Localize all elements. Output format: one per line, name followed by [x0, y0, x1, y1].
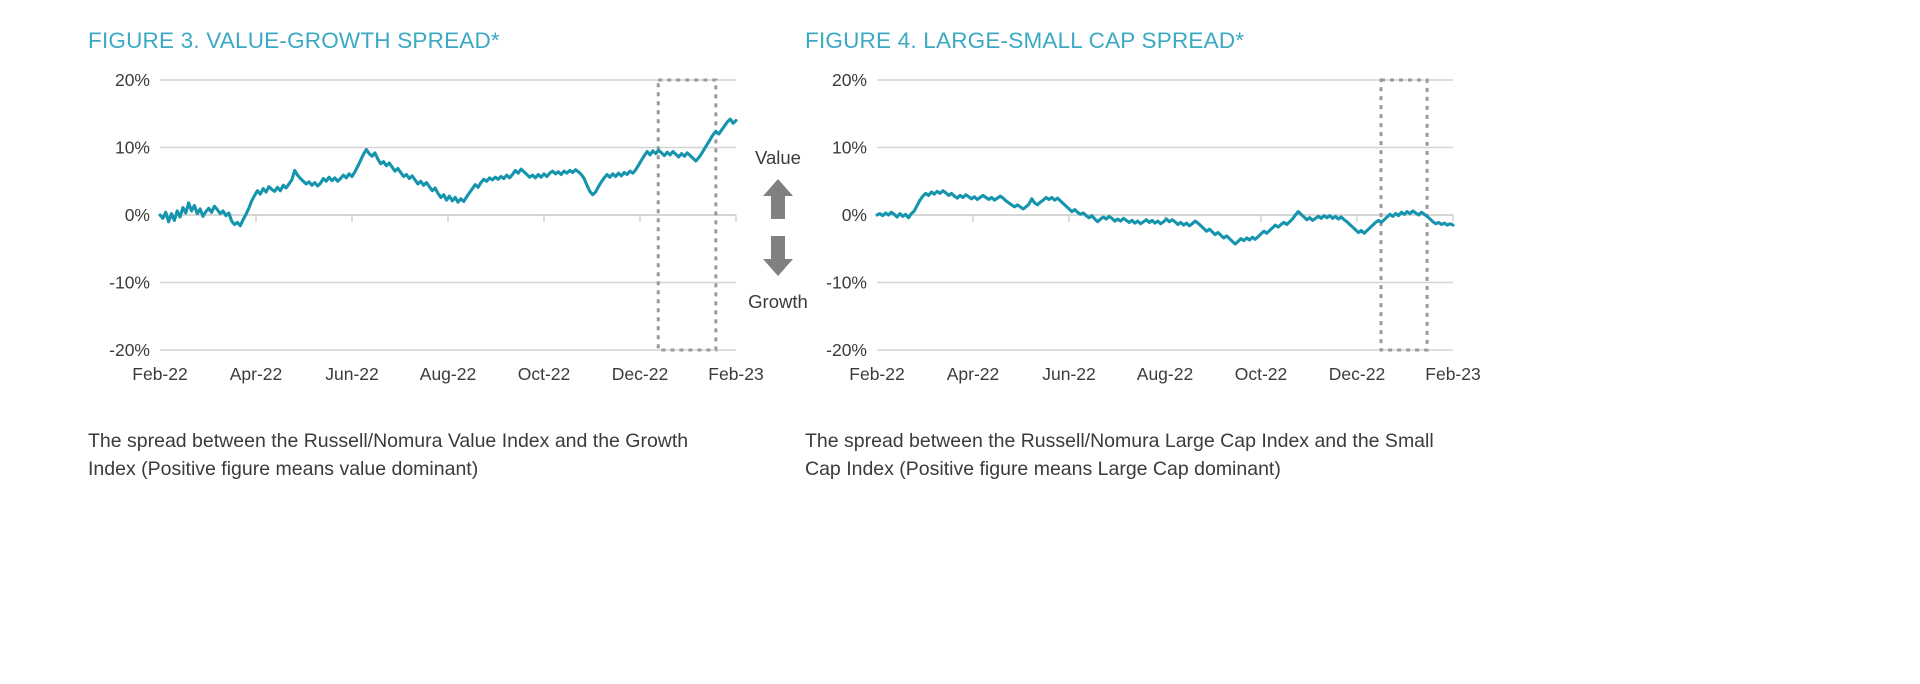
series-line: [160, 119, 736, 226]
y-axis-tick-label: 20%: [115, 70, 150, 90]
x-axis-tick-label: Oct-22: [518, 364, 571, 384]
arrow-down-icon: [762, 235, 794, 282]
y-axis-tick-label: -10%: [109, 273, 150, 293]
x-axis-tick-label: Dec-22: [612, 364, 668, 384]
x-axis-tick-label: Feb-23: [1425, 364, 1480, 384]
x-axis-tick-label: Feb-22: [849, 364, 904, 384]
arrow-up-icon: [762, 178, 794, 225]
x-axis-tick-label: Apr-22: [947, 364, 1000, 384]
y-axis-tick-label: 10%: [832, 138, 867, 158]
figure-3-panel: FIGURE 3. VALUE-GROWTH SPREAD* 20%10%0%-…: [88, 0, 888, 684]
y-axis-tick-label: -20%: [826, 340, 867, 360]
figure-4-title: FIGURE 4. LARGE-SMALL CAP SPREAD*: [805, 28, 1244, 54]
x-axis-tick-label: Aug-22: [420, 364, 476, 384]
figure-4-panel: FIGURE 4. LARGE-SMALL CAP SPREAD* 20%10%…: [805, 0, 1605, 684]
x-axis-tick-label: Dec-22: [1329, 364, 1385, 384]
figure-4-caption: The spread between the Russell/Nomura La…: [805, 428, 1445, 483]
y-axis-tick-label: -10%: [826, 273, 867, 293]
figure-3-title: FIGURE 3. VALUE-GROWTH SPREAD*: [88, 28, 500, 54]
y-axis-tick-label: 10%: [115, 138, 150, 158]
x-axis-tick-label: Feb-23: [708, 364, 763, 384]
figure-3-caption: The spread between the Russell/Nomura Va…: [88, 428, 708, 483]
y-axis-tick-label: 0%: [125, 205, 150, 225]
x-axis-tick-label: Apr-22: [230, 364, 283, 384]
x-axis-tick-label: Aug-22: [1137, 364, 1193, 384]
large-small-cap-spread-chart: 20%10%0%-10%-20%Feb-22Apr-22Jun-22Aug-22…: [805, 62, 1505, 392]
x-axis-tick-label: Feb-22: [132, 364, 187, 384]
y-axis-tick-label: 20%: [832, 70, 867, 90]
x-axis-tick-label: Oct-22: [1235, 364, 1288, 384]
figure-4-chart: 20%10%0%-10%-20%Feb-22Apr-22Jun-22Aug-22…: [805, 62, 1505, 392]
figure-3-chart: 20%10%0%-10%-20%Feb-22Apr-22Jun-22Aug-22…: [88, 62, 788, 392]
y-axis-tick-label: -20%: [109, 340, 150, 360]
x-axis-tick-label: Jun-22: [325, 364, 379, 384]
value-growth-spread-chart: 20%10%0%-10%-20%Feb-22Apr-22Jun-22Aug-22…: [88, 62, 788, 392]
x-axis-tick-label: Jun-22: [1042, 364, 1096, 384]
y-axis-tick-label: 0%: [842, 205, 867, 225]
